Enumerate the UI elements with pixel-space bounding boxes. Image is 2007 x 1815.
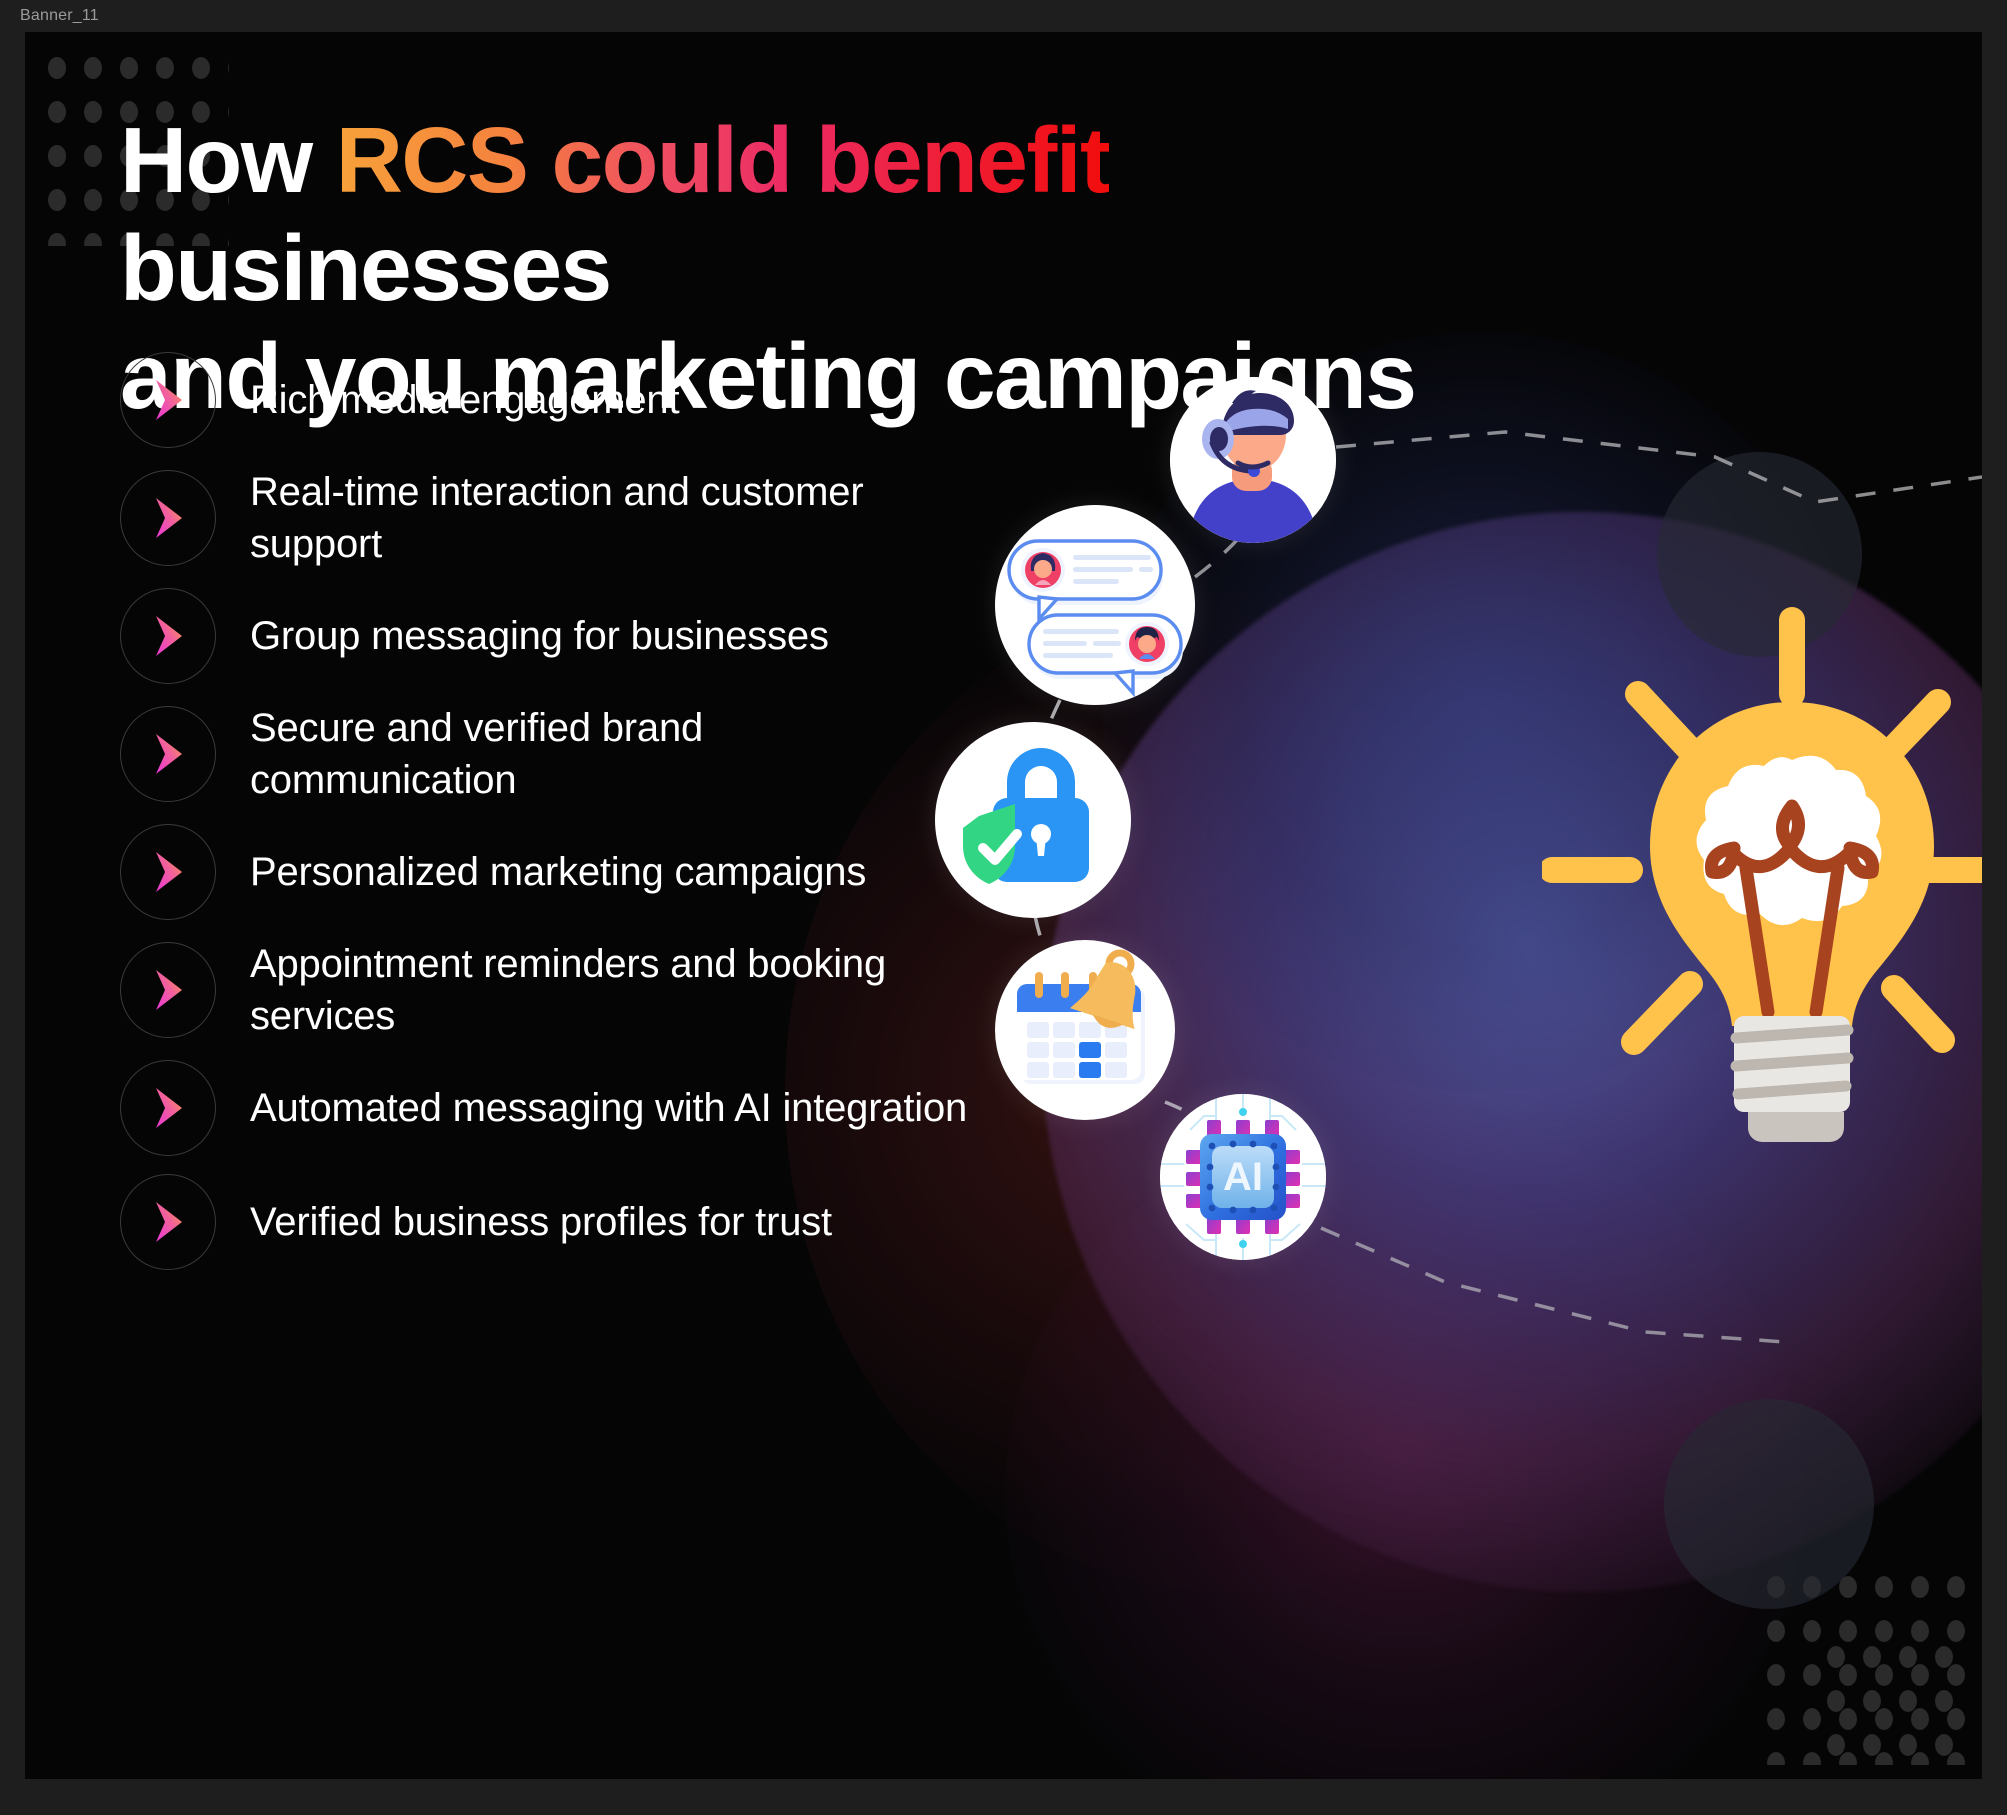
benefit-label: Personalized marketing campaigns xyxy=(250,846,866,898)
benefit-list-item: Personalized marketing campaigns xyxy=(120,824,980,920)
chevron-right-icon xyxy=(148,614,188,658)
chevron-right-icon xyxy=(148,378,188,422)
bulb-base xyxy=(1734,1016,1850,1142)
node-chat-bubbles xyxy=(995,505,1195,705)
app-root: Banner_11 How RCS could benefit business… xyxy=(0,0,2007,1815)
ai-chip-label: AI xyxy=(1223,1155,1263,1199)
benefit-list: Rich media engagement Real-time interact… xyxy=(120,352,980,1288)
benefit-list-item: Automated messaging with AI integration xyxy=(120,1060,980,1156)
benefit-label: Secure and verified brand communication xyxy=(250,702,980,806)
dot-grid-bottom-right-dense xyxy=(1818,1635,1968,1765)
calendar-bell-icon xyxy=(995,940,1175,1120)
benefit-label: Group messaging for businesses xyxy=(250,610,829,662)
benefit-label: Real-time interaction and customer suppo… xyxy=(250,466,980,570)
headline-plain-end: businesses xyxy=(120,216,611,320)
benefit-list-item: Real-time interaction and customer suppo… xyxy=(120,466,980,570)
lightbulb-icon xyxy=(1542,602,1982,1162)
node-lock-shield xyxy=(935,722,1131,918)
headline-gradient-phrase: RCS could benefit xyxy=(336,108,1110,212)
benefit-list-item: Group messaging for businesses xyxy=(120,588,980,684)
banner-canvas: How RCS could benefit businesses and you… xyxy=(25,32,1982,1779)
benefit-list-item: Appointment reminders and booking servic… xyxy=(120,938,980,1042)
bullet-icon-ring xyxy=(120,824,216,920)
node-ai-chip: AI xyxy=(1160,1094,1326,1260)
benefit-label: Automated messaging with AI integration xyxy=(250,1082,967,1134)
node-calendar-bell xyxy=(995,940,1175,1120)
benefit-list-item: Verified business profiles for trust xyxy=(120,1174,980,1270)
lightbulb-illustration xyxy=(1542,602,1982,1162)
chat-bubbles-icon xyxy=(995,505,1195,705)
ai-chip-icon: AI xyxy=(1160,1094,1326,1260)
benefit-label: Verified business profiles for trust xyxy=(250,1196,832,1248)
bullet-icon-ring xyxy=(120,588,216,684)
decorative-circle-bottom xyxy=(1664,1399,1874,1609)
benefit-label: Rich media engagement xyxy=(250,374,679,426)
bullet-icon-ring xyxy=(120,1174,216,1270)
chevron-right-icon xyxy=(148,968,188,1012)
file-name-label: Banner_11 xyxy=(20,7,99,25)
bullet-icon-ring xyxy=(120,942,216,1038)
lock-shield-icon xyxy=(935,722,1131,918)
chevron-right-icon xyxy=(148,850,188,894)
bullet-icon-ring xyxy=(120,470,216,566)
bullet-icon-ring xyxy=(120,706,216,802)
chevron-right-icon xyxy=(148,496,188,540)
chevron-right-icon xyxy=(148,1086,188,1130)
chevron-right-icon xyxy=(148,1200,188,1244)
titlebar: Banner_11 xyxy=(0,0,2007,32)
benefit-list-item: Secure and verified brand communication xyxy=(120,702,980,806)
chevron-right-icon xyxy=(148,732,188,776)
headline-plain-start: How xyxy=(120,108,336,212)
benefit-list-item: Rich media engagement xyxy=(120,352,980,448)
bullet-icon-ring xyxy=(120,352,216,448)
benefit-label: Appointment reminders and booking servic… xyxy=(250,938,980,1042)
bullet-icon-ring xyxy=(120,1060,216,1156)
